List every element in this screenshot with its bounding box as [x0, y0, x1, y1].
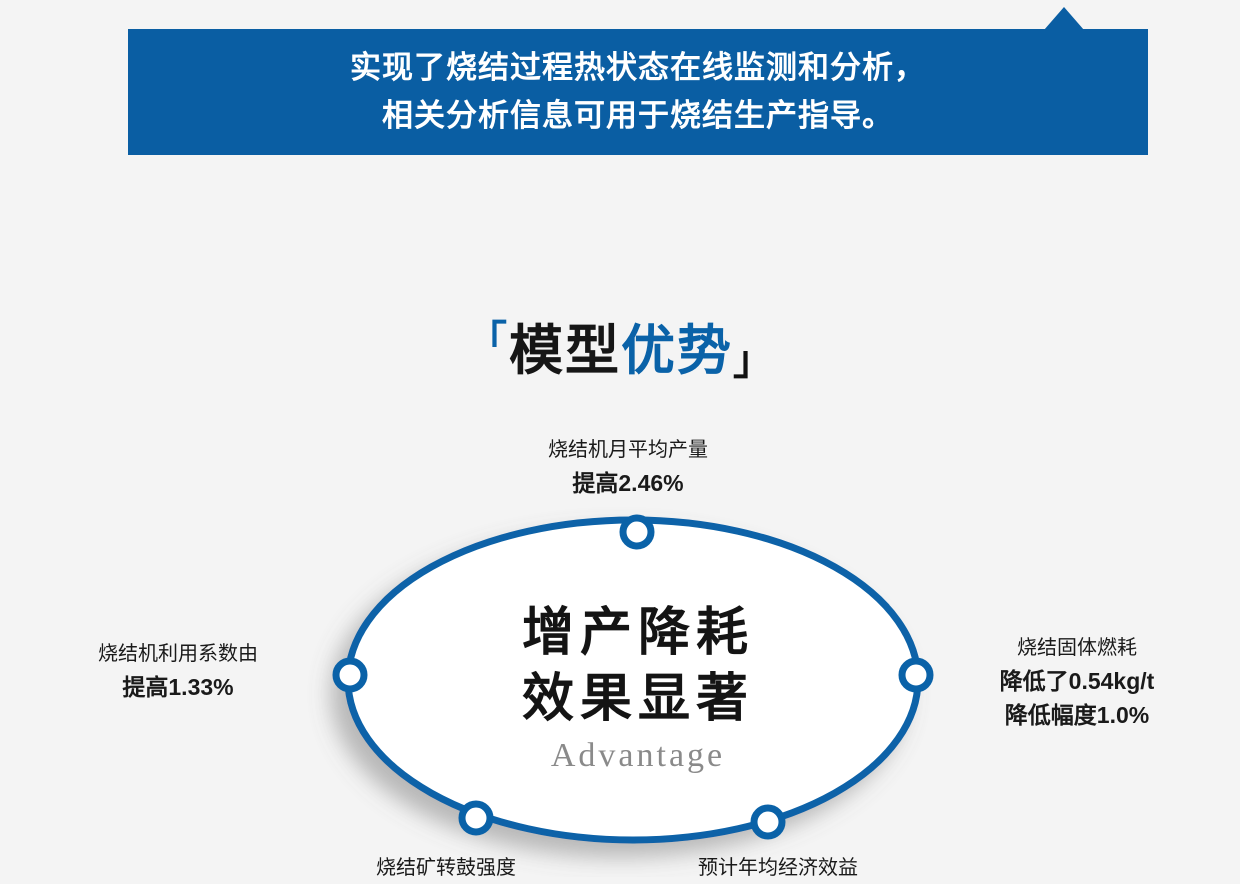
label-right-value-2: 降低幅度1.0%	[932, 698, 1222, 732]
page-title: 「模型优势」	[0, 306, 1240, 385]
banner-line-2: 相关分析信息可用于烧结生产指导。	[382, 92, 894, 140]
label-node-top: 烧结机月平均产量 提高2.46%	[428, 434, 828, 500]
label-left-value: 提高1.33%	[18, 670, 338, 704]
label-right-caption: 烧结固体燃耗	[932, 632, 1222, 664]
label-bottom-right-caption: 预计年均经济效益	[628, 852, 928, 884]
node-circle-left[interactable]	[336, 661, 364, 689]
label-bottom-left-caption: 烧结矿转鼓强度	[296, 852, 596, 884]
center-line-2: 效果显著	[398, 666, 878, 732]
banner-notch-triangle-icon	[1044, 7, 1084, 30]
node-circle-bottom-right[interactable]	[754, 808, 782, 836]
node-circle-right[interactable]	[902, 661, 930, 689]
center-subtitle: Advantage	[398, 734, 878, 778]
bracket-close-icon: 」	[733, 328, 773, 386]
label-right-value: 降低了0.54kg/t	[932, 664, 1222, 698]
page-title-dark: 模型	[509, 321, 621, 381]
label-left-caption: 烧结机利用系数由	[18, 638, 338, 670]
label-top-caption: 烧结机月平均产量	[428, 434, 828, 466]
label-node-right: 烧结固体燃耗 降低了0.54kg/t 降低幅度1.0%	[932, 632, 1222, 732]
headline-banner: 实现了烧结过程热状态在线监测和分析， 相关分析信息可用于烧结生产指导。	[128, 29, 1148, 155]
banner-line-1: 实现了烧结过程热状态在线监测和分析，	[350, 44, 926, 92]
ellipse-center-text: 增产降耗 效果显著 Advantage	[398, 600, 878, 778]
label-node-left: 烧结机利用系数由 提高1.33%	[18, 638, 338, 704]
node-circle-bottom-left[interactable]	[462, 804, 490, 832]
center-line-1: 增产降耗	[398, 600, 878, 666]
bracket-open-icon: 「	[467, 308, 507, 366]
label-node-bottom-right: 预计年均经济效益	[628, 852, 928, 884]
page-title-accent: 优势	[621, 321, 733, 381]
label-node-bottom-left: 烧结矿转鼓强度	[296, 852, 596, 884]
node-circle-top[interactable]	[623, 518, 651, 546]
label-top-value: 提高2.46%	[428, 466, 828, 500]
